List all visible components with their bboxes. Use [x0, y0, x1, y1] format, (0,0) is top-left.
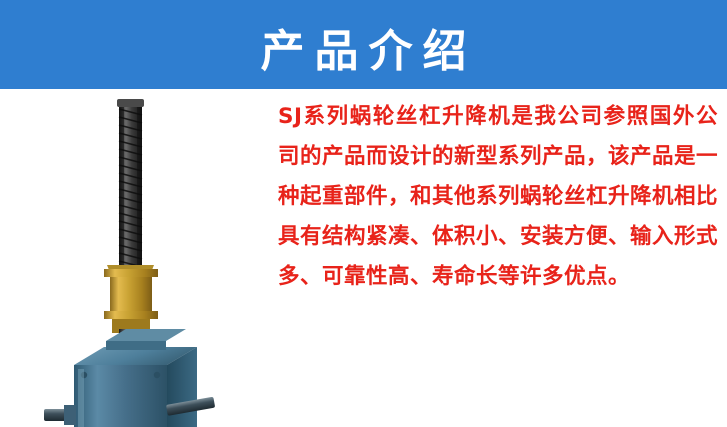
brass-collar-icon: [104, 265, 158, 333]
product-description: SJ系列蜗轮丝杠升降机是我公司参照国外公司的产品而设计的新型系列产品，该产品是一…: [278, 97, 718, 297]
header-banner: 产品介绍: [0, 0, 727, 89]
page-root: 产品介绍: [0, 0, 727, 427]
screw-shaft-icon: [117, 99, 144, 267]
content-area: SJ系列蜗轮丝杠升降机是我公司参照国外公司的产品而设计的新型系列产品，该产品是一…: [0, 89, 727, 427]
product-illustration: [0, 89, 272, 427]
page-title: 产品介绍: [0, 0, 727, 89]
product-image: [0, 89, 272, 427]
